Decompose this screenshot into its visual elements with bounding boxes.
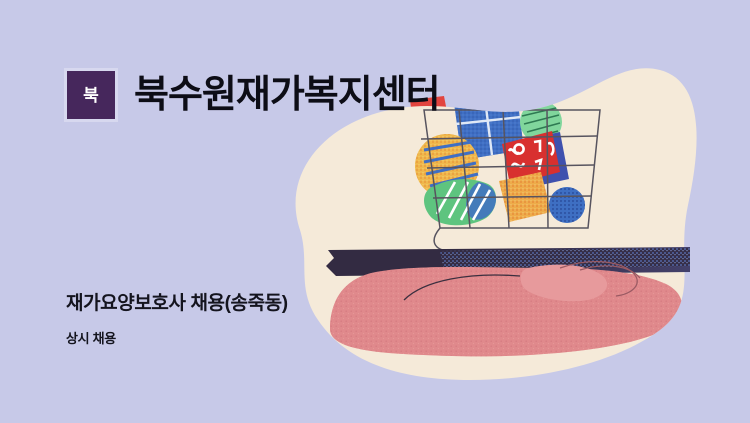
shopping-cart-frame (421, 110, 600, 266)
org-logo-badge-text: 북 (83, 87, 99, 104)
yellow-striped-circle (415, 134, 479, 198)
blue-circle (549, 187, 585, 223)
green-striped-blob (424, 179, 496, 225)
red-squiggle-box (502, 131, 569, 190)
job-info-block: 재가요양보호사 채용(송죽동) 상시 채용 (66, 292, 288, 348)
device-bar (326, 247, 690, 276)
job-posting-banner: 북 북수원재가복지센터 재가요양보호사 채용(송죽동) 상시 채용 (0, 0, 750, 423)
org-title: 북수원재가복지센터 (134, 76, 440, 114)
green-striped-circle (520, 101, 562, 143)
orange-square (499, 172, 551, 222)
gift-bow (493, 67, 514, 104)
org-logo-badge: 북 (64, 68, 118, 122)
banner-header: 북 북수원재가복지센터 (64, 68, 440, 122)
job-title: 재가요양보호사 채용(송죽동) (66, 292, 288, 317)
job-status-badge: 상시 채용 (66, 331, 288, 348)
hand-illustration (330, 262, 682, 357)
banner-illustration (0, 0, 750, 423)
cart-goods (415, 88, 585, 225)
blue-gift-box (453, 88, 524, 160)
